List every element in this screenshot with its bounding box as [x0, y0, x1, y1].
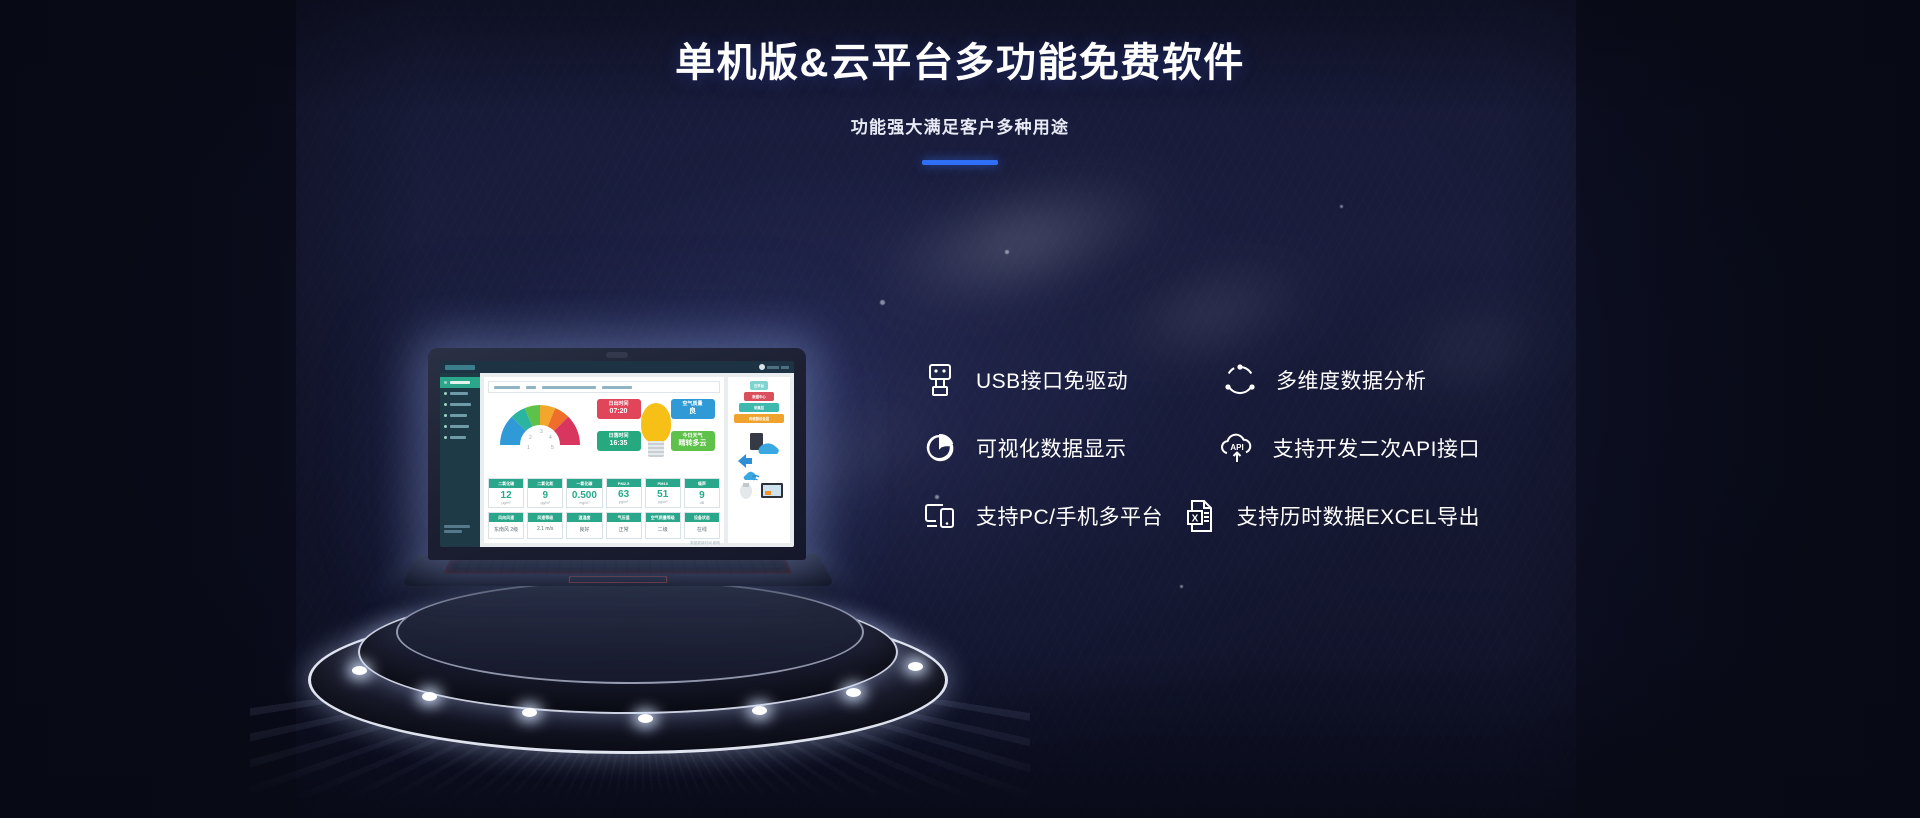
weather-bulb-infographic: 日出时间 07:20 空气质量 良 日落时间 16:35: [597, 397, 715, 473]
feature-label: 支持开发二次API接口: [1273, 433, 1480, 463]
status-card: 风向风速 东南风 2级: [488, 512, 524, 539]
network-nodes-icon: [1220, 360, 1260, 400]
podium-lamp: [908, 662, 923, 671]
svg-text:API: API: [1230, 443, 1243, 452]
menu-dot-icon: [444, 403, 447, 406]
feature-item-usb[interactable]: USB接口免驱动: [920, 360, 1220, 400]
dashboard-filter-bar[interactable]: [488, 381, 720, 393]
menu-dot-icon: [444, 381, 447, 384]
aqi-gauge-chart: 2 3 4 1 5: [494, 397, 586, 473]
sidebar-item-label: [450, 436, 466, 439]
podium-lamp: [638, 714, 653, 723]
laptop-keyboard: [443, 558, 792, 574]
bulb-tag-weather: 今日天气 晴转多云: [671, 431, 715, 451]
iot-devices-illustration: [732, 431, 786, 501]
status-card: 空气质量等级 二级: [645, 512, 681, 539]
page-title: 单机版&云平台多功能免费软件: [0, 30, 1920, 88]
sidebar-item-label: [450, 392, 468, 395]
banner-header: 单机版&云平台多功能免费软件 功能强大满足客户多种用途: [0, 0, 1920, 165]
sidebar-item-realtime[interactable]: [440, 388, 480, 399]
sidebar-footer: [444, 525, 470, 535]
sidebar-item-label: [450, 414, 467, 417]
webcam-icon: [606, 352, 628, 358]
sidebar-item-label: [450, 425, 469, 428]
status-card: 温湿度 良好: [566, 512, 602, 539]
feature-list: USB接口免驱动 多维度数据分析: [920, 360, 1480, 564]
devices-icon: [920, 496, 960, 536]
feature-item-visualization[interactable]: 可视化数据显示: [920, 428, 1217, 468]
sidebar-item-history[interactable]: [440, 399, 480, 410]
feature-item-multiplatform[interactable]: 支持PC/手机多平台: [920, 496, 1181, 536]
sidebar-item-devices[interactable]: [440, 410, 480, 421]
page-subtitle: 功能强大满足客户多种用途: [0, 113, 1920, 138]
kpi-card: 噪声 9 dB: [684, 478, 720, 508]
svg-text:4: 4: [549, 435, 552, 441]
menu-dot-icon: [444, 425, 447, 428]
pie-chart-icon: [920, 428, 960, 468]
status-card: 气压值 正常: [606, 512, 642, 539]
feature-label: 多维度数据分析: [1276, 365, 1427, 395]
podium-lamp: [752, 706, 767, 715]
podium-lamp: [522, 708, 537, 717]
hero-banner: 单机版&云平台多功能免费软件 功能强大满足客户多种用途: [0, 0, 1920, 818]
lightbulb-icon: [641, 403, 671, 443]
feature-label: 可视化数据显示: [976, 433, 1127, 463]
user-menu[interactable]: [759, 364, 789, 370]
feature-label: 支持PC/手机多平台: [976, 501, 1163, 531]
dashboard-side-panel: 云平台 数据中心 采集层 传感器设备层: [728, 377, 790, 543]
svg-text:2: 2: [529, 435, 532, 441]
menu-dot-icon: [444, 436, 447, 439]
status-card: 设备状态 在线: [684, 512, 720, 539]
avatar: [759, 364, 765, 370]
cloud-api-icon: API: [1217, 428, 1257, 468]
feature-row: 支持PC/手机多平台 X 支持历时数据EXCEL导出: [920, 496, 1480, 536]
podium-lamp: [846, 688, 861, 697]
svg-text:3: 3: [540, 429, 543, 435]
menu-dot-icon: [444, 414, 447, 417]
architecture-pyramid-diagram: 云平台 数据中心 采集层 传感器设备层: [733, 381, 785, 425]
kpi-card: PM10 51 μg/m³: [645, 478, 681, 508]
lightbulb-base: [648, 441, 664, 457]
dashboard-topbar: [440, 361, 794, 373]
menu-dot-icon: [444, 392, 447, 395]
podium-lamp: [352, 666, 367, 675]
glowing-podium: [300, 588, 960, 778]
feature-row: 可视化数据显示 API 支持开发二次API接口: [920, 428, 1480, 468]
kpi-card: 二氧化碳 12 μg/m³: [488, 478, 524, 508]
sidebar-item-label: [450, 403, 471, 406]
feature-item-analytics[interactable]: 多维度数据分析: [1220, 360, 1427, 400]
sidebar-item-label: [450, 381, 470, 384]
status-grid: 风向风速 东南风 2级 风速等级 2.1 m/s 温湿度 良好: [488, 512, 720, 539]
dashboard-primary-panel: 2 3 4 1 5: [484, 377, 724, 543]
svg-text:X: X: [1191, 514, 1198, 525]
dashboard-charts-row: 2 3 4 1 5: [488, 396, 720, 474]
logout-placeholder: [781, 366, 789, 369]
status-card: 风速等级 2.1 m/s: [527, 512, 563, 539]
feature-row: USB接口免驱动 多维度数据分析: [920, 360, 1480, 400]
excel-file-icon: X: [1181, 496, 1221, 536]
svg-text:5: 5: [551, 445, 554, 451]
laptop-mockup: 2 3 4 1 5: [418, 348, 818, 608]
user-name-placeholder: [767, 366, 779, 369]
app-logo: [445, 365, 475, 370]
bulb-tag-sunset: 日落时间 16:35: [597, 431, 641, 451]
dashboard-main: 2 3 4 1 5: [480, 373, 794, 547]
dashboard-sidebar: [440, 373, 480, 547]
bulb-tag-sunrise: 日出时间 07:20: [597, 399, 641, 419]
svg-text:1: 1: [527, 445, 530, 451]
kpi-card: PM2.5 63 μg/m³: [606, 478, 642, 508]
laptop-touchpad: [568, 576, 667, 583]
feature-label: 支持历时数据EXCEL导出: [1237, 501, 1480, 531]
feature-item-excel-export[interactable]: X 支持历时数据EXCEL导出: [1181, 496, 1480, 536]
feature-label: USB接口免驱动: [976, 365, 1128, 395]
accent-divider: [922, 160, 998, 165]
sidebar-item-alarms[interactable]: [440, 421, 480, 432]
sidebar-item-overview[interactable]: [440, 377, 480, 388]
laptop-lid: 2 3 4 1 5: [428, 348, 806, 560]
kpi-card: 二氧化氮 9 μg/m³: [527, 478, 563, 508]
usb-icon: [920, 360, 960, 400]
bulb-tag-air-quality: 空气质量 良: [671, 399, 715, 419]
podium-lamp: [422, 692, 437, 701]
dashboard-screen: 2 3 4 1 5: [440, 361, 794, 547]
kpi-card: 一氧化碳 0.500 mg/m³: [566, 478, 602, 508]
feature-item-api[interactable]: API 支持开发二次API接口: [1217, 428, 1480, 468]
sidebar-item-settings[interactable]: [440, 432, 480, 443]
kpi-grid: 二氧化碳 12 μg/m³ 二氧化氮 9 μg/m³ 一氧化碳: [488, 478, 720, 508]
dashboard-footer-note: 数据更新时间 刚刚: [488, 541, 720, 546]
